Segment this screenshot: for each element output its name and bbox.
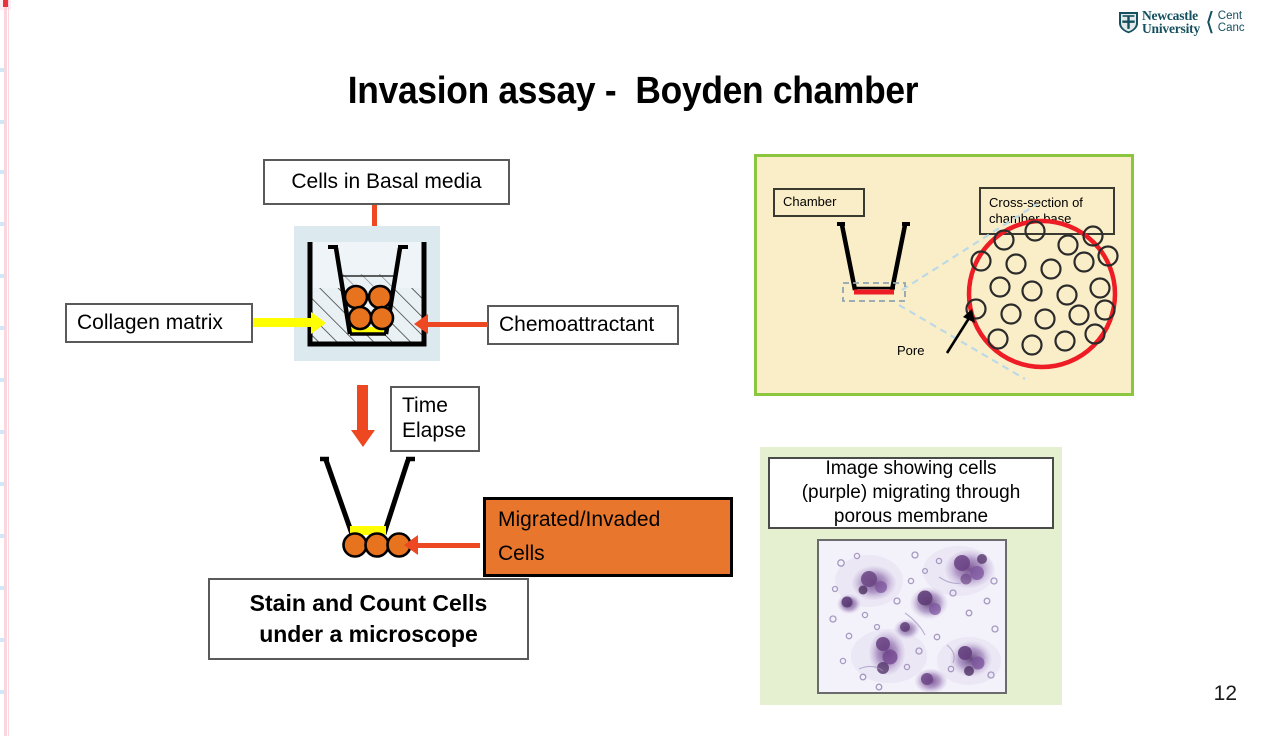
logo-sub-line2: Canc — [1218, 22, 1245, 34]
logo-wordmark: Newcastle University — [1142, 9, 1200, 36]
label-text-line1: Time — [402, 394, 448, 419]
pore — [1026, 222, 1045, 241]
label-text-line2: Elapse — [402, 419, 466, 444]
logo-sub-line1: Cent — [1218, 10, 1245, 22]
cell — [369, 286, 391, 308]
label-text-line1: Stain and Count Cells — [250, 588, 488, 619]
stained-cells-render — [819, 541, 1005, 692]
edge-tick — [0, 690, 4, 694]
arrow-chemoattractant-shaft — [428, 322, 488, 327]
edge-tick — [0, 430, 4, 434]
pore — [1070, 306, 1089, 325]
edge-tick — [0, 274, 4, 278]
edge-pink-line-secondary — [8, 0, 9, 736]
edge-tick — [0, 482, 4, 486]
lower-boyden-chamber-diagram — [308, 448, 438, 573]
pore-cross-section-panel: Chamber Cross-section of chamber base — [754, 154, 1134, 396]
cell — [349, 307, 371, 329]
pore — [1023, 336, 1042, 355]
caption-line3: porous membrane — [834, 506, 988, 527]
arrow-collagen-head — [311, 312, 326, 334]
label-time-elapse: Time Elapse — [390, 386, 480, 452]
page-number: 12 — [1214, 682, 1237, 706]
pore — [1075, 253, 1094, 272]
pore — [1091, 279, 1110, 298]
edge-tick — [0, 68, 4, 72]
microscopy-caption: Image showing cells (purple) migrating t… — [768, 457, 1054, 529]
chamber-wall-left — [842, 225, 855, 290]
edge-tick — [0, 120, 4, 124]
shield-crest-icon — [1118, 11, 1139, 34]
edge-tick — [0, 378, 4, 382]
arrow-migrated-cells-shaft — [418, 543, 480, 548]
label-text-line1: Migrated/Invaded — [498, 503, 660, 537]
label-text-line2: under a microscope — [259, 619, 478, 650]
slide-canvas: Newcastle University ⟨ Cent Canc Invasio… — [0, 0, 1266, 736]
edge-tick — [0, 326, 4, 330]
newcastle-university-logo: Newcastle University ⟨ Cent Canc — [1118, 6, 1266, 38]
pore-diagram — [757, 157, 1131, 393]
pore — [991, 278, 1010, 297]
edge-tick — [0, 222, 4, 226]
edge-tick — [0, 534, 4, 538]
arrow-migrated-cells-head — [404, 535, 418, 555]
label-text-line2: Cells — [498, 537, 545, 571]
label-collagen-matrix: Collagen matrix — [65, 303, 253, 343]
pore — [1058, 286, 1077, 305]
pore — [1059, 236, 1078, 255]
cell-cluster — [950, 641, 992, 677]
arrow-collagen-shaft — [253, 318, 312, 327]
microscopy-panel: Image showing cells (purple) migrating t… — [760, 447, 1062, 705]
cell-cluster — [915, 669, 947, 693]
caption-line1: Image showing cells — [825, 458, 996, 479]
label-stain-and-count: Stain and Count Cells under a microscope — [208, 578, 529, 660]
label-text: Collagen matrix — [77, 311, 223, 336]
edge-red-marker — [3, 0, 8, 7]
cell-cluster — [869, 631, 905, 675]
cell — [345, 286, 367, 308]
label-text: Cells in Basal media — [291, 170, 481, 195]
microscopy-image — [817, 539, 1007, 694]
chamber-wall-right — [892, 225, 905, 290]
cell — [371, 307, 393, 329]
label-pore: Pore — [897, 343, 924, 358]
pore-pointer-shaft — [947, 315, 971, 353]
cell-cluster — [837, 594, 861, 614]
edge-pink-line — [4, 0, 7, 736]
pore — [1036, 310, 1055, 329]
arrow-chemoattractant-head — [414, 314, 428, 334]
edge-tick — [0, 638, 4, 642]
edge-tick — [0, 586, 4, 590]
cell-cluster — [945, 550, 993, 588]
edge-tick — [0, 170, 4, 174]
viewer-edge-strip — [0, 0, 11, 736]
upper-boyden-chamber-diagram — [294, 226, 444, 366]
page-title: Invasion assay - Boyden chamber — [44, 70, 1221, 113]
cell-cluster — [852, 566, 896, 600]
pore — [1007, 255, 1026, 274]
arrow-time-elapse-shaft — [357, 385, 368, 433]
pore — [1056, 332, 1075, 351]
arrow-time-elapse-head — [351, 430, 375, 447]
logo-sub-wordmark: Cent Canc — [1218, 10, 1245, 34]
migrated-cell — [344, 534, 367, 557]
logo-line-newcastle: Newcastle — [1142, 9, 1200, 23]
label-migrated-invaded-cells: Migrated/Invaded Cells — [483, 497, 733, 577]
label-text: Chemoattractant — [499, 313, 654, 338]
label-chemoattractant: Chemoattractant — [487, 305, 679, 345]
logo-line-university: University — [1142, 22, 1200, 36]
cell-cluster — [910, 587, 948, 619]
caption-line2: (purple) migrating through — [802, 482, 1021, 503]
logo-bracket-icon: ⟨ — [1205, 11, 1215, 33]
pore — [1002, 305, 1021, 324]
migrated-cell — [366, 534, 389, 557]
pore — [1042, 260, 1061, 279]
pore — [1023, 282, 1042, 301]
pore — [989, 330, 1008, 349]
label-cells-in-basal-media: Cells in Basal media — [263, 159, 510, 205]
